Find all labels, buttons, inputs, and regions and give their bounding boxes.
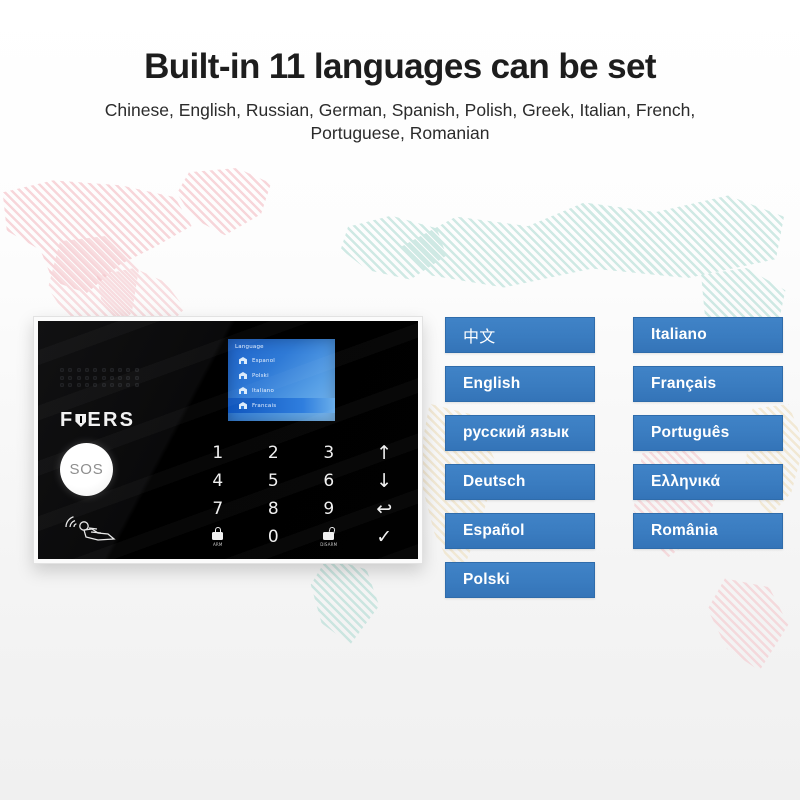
product-feature-banner: Built-in 11 languages can be set Chinese…	[0, 0, 800, 800]
language-button-greek[interactable]: Ελληνικά	[633, 464, 783, 500]
lcd-menu-item-label: Italiano	[252, 388, 274, 394]
keypad-key-5[interactable]: 5	[246, 467, 302, 495]
lcd-menu-item-3-selected[interactable]: Francais	[228, 398, 335, 413]
keypad-key-8[interactable]: 8	[246, 495, 302, 523]
language-button-english[interactable]: English	[445, 366, 595, 402]
back-return-icon[interactable]: ↩	[357, 495, 413, 523]
house-icon	[239, 387, 247, 394]
language-button-polish[interactable]: Polski	[445, 562, 595, 598]
map-region-oceania	[300, 556, 390, 652]
lcd-menu-item-1[interactable]: Polski	[228, 368, 335, 383]
lcd-screen: Language Espanol Polski Italiano Francai…	[228, 339, 335, 421]
language-button-french[interactable]: Français	[633, 366, 783, 402]
arrow-up-icon[interactable]: ↑	[357, 439, 413, 467]
house-icon	[239, 372, 247, 379]
brand-logo: FERS	[60, 409, 135, 432]
sos-button[interactable]: SOS	[60, 443, 113, 496]
page-subtitle: Chinese, English, Russian, German, Spani…	[80, 99, 720, 146]
keypad-key-1[interactable]: 1	[190, 439, 246, 467]
keypad: 1 2 3 ↑ 4 5 6 ↓ 7 8 9 ↩ ARM 0	[190, 439, 412, 551]
disarm-button-label: DISARM	[320, 543, 337, 547]
lcd-menu-item-label: Francais	[252, 403, 276, 409]
check-icon[interactable]: ✓	[357, 523, 413, 551]
house-icon	[239, 402, 247, 409]
disarm-button[interactable]: DISARM	[301, 523, 357, 551]
lcd-menu-item-2[interactable]: Italiano	[228, 383, 335, 398]
lcd-menu-item-label: Polski	[252, 373, 269, 379]
map-region-eurasia	[392, 186, 792, 304]
page-title: Built-in 11 languages can be set	[0, 48, 800, 87]
house-icon	[239, 357, 247, 364]
language-column-right: Italiano Français Português Ελληνικά Rom…	[633, 317, 783, 598]
keypad-key-2[interactable]: 2	[246, 439, 302, 467]
keypad-key-7[interactable]: 7	[190, 495, 246, 523]
alarm-panel-device: FERS SOS Language	[33, 316, 423, 564]
keypad-key-6[interactable]: 6	[301, 467, 357, 495]
lock-open-icon	[323, 527, 334, 540]
sos-button-label: SOS	[69, 461, 103, 478]
brand-logo-text-ers: ERS	[87, 409, 135, 432]
arrow-down-icon[interactable]: ↓	[357, 467, 413, 495]
lock-closed-icon	[212, 527, 223, 540]
keypad-key-0[interactable]: 0	[246, 523, 302, 551]
map-region-europe	[336, 214, 456, 294]
lcd-menu-title: Language	[235, 344, 335, 350]
language-button-german[interactable]: Deutsch	[445, 464, 595, 500]
keypad-key-9[interactable]: 9	[301, 495, 357, 523]
lcd-menu-item-label: Espanol	[252, 358, 275, 364]
banner-header: Built-in 11 languages can be set Chinese…	[0, 0, 800, 146]
rfid-card-tap-icon	[64, 513, 120, 541]
language-button-romanian[interactable]: România	[633, 513, 783, 549]
language-button-portuguese[interactable]: Português	[633, 415, 783, 451]
language-options: 中文 English русский язык Deutsch Español …	[445, 317, 783, 598]
language-button-chinese[interactable]: 中文	[445, 317, 595, 353]
keypad-key-3[interactable]: 3	[301, 439, 357, 467]
arm-button[interactable]: ARM	[190, 523, 246, 551]
arm-button-label: ARM	[213, 543, 223, 547]
lcd-menu-item-0[interactable]: Espanol	[228, 353, 335, 368]
shield-icon	[75, 414, 86, 427]
map-region-north-america	[0, 178, 200, 298]
brand-logo-text-f: F	[60, 409, 74, 432]
language-button-spanish[interactable]: Español	[445, 513, 595, 549]
language-button-russian[interactable]: русский язык	[445, 415, 595, 451]
language-column-left: 中文 English русский язык Deutsch Español …	[445, 317, 595, 598]
keypad-key-4[interactable]: 4	[190, 467, 246, 495]
language-button-italian[interactable]: Italiano	[633, 317, 783, 353]
map-region-greenland	[175, 168, 275, 238]
speaker-grille-icon	[60, 368, 142, 390]
